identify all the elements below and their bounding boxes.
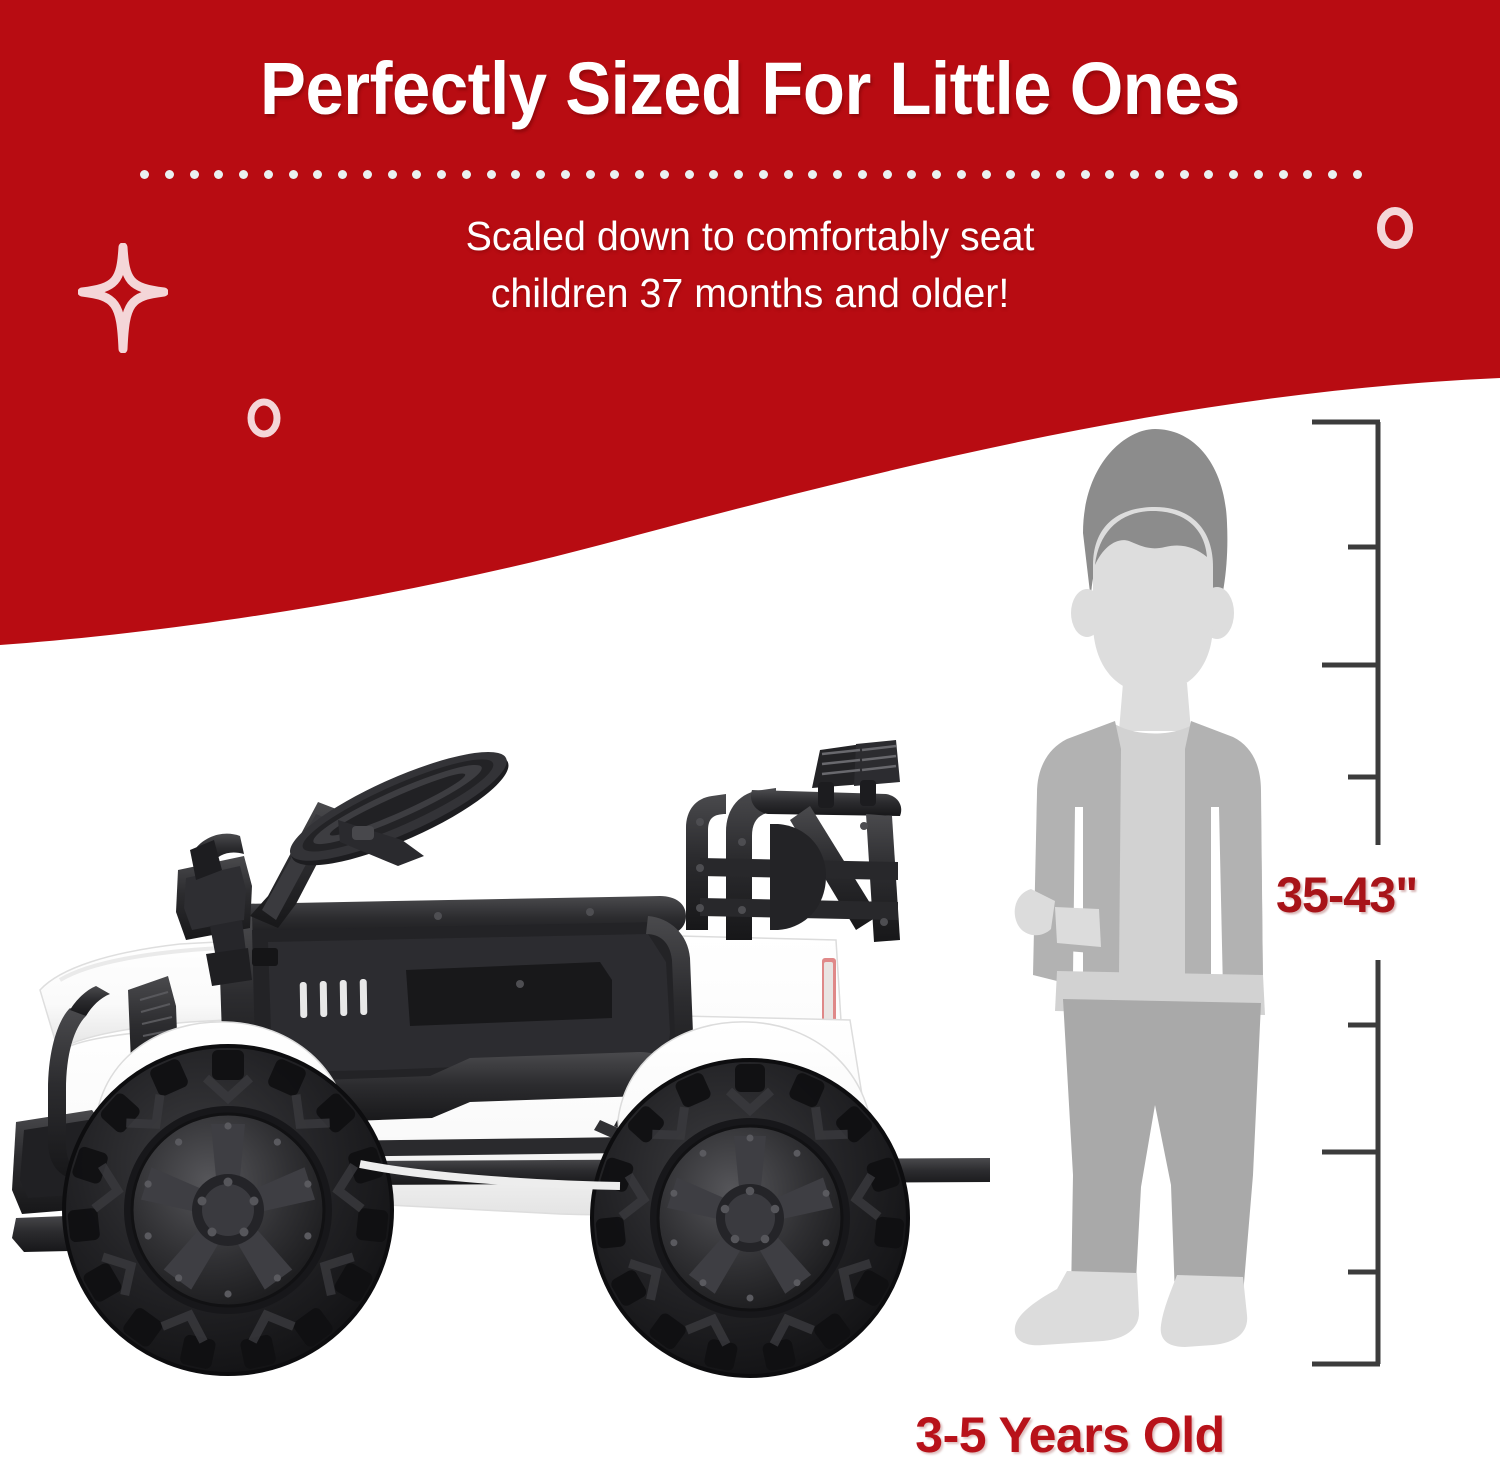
taillight-lens	[824, 962, 833, 1024]
child-shoe-right	[1161, 1275, 1247, 1347]
child-silhouette	[995, 415, 1295, 1375]
front-wheel	[64, 1046, 392, 1374]
child-forearm-left	[1055, 907, 1101, 947]
product-feature-image: Perfectly Sized For Little Ones Scaled d…	[0, 0, 1500, 1476]
kids-ride-on-truck-image	[0, 690, 990, 1430]
child-neck	[1119, 683, 1191, 731]
steering-wheel	[250, 733, 520, 928]
height-range-label: 35-43"	[1276, 866, 1417, 924]
child-figure	[995, 415, 1295, 1375]
child-shoe-left	[1015, 1271, 1139, 1345]
truck-illustration	[0, 690, 990, 1430]
rear-wheel	[592, 1060, 908, 1376]
child-arm-right	[1226, 755, 1263, 989]
age-range-label: 3-5 Years Old	[0, 1406, 1500, 1464]
child-pants	[1063, 999, 1261, 1299]
roll-bar	[686, 788, 901, 942]
